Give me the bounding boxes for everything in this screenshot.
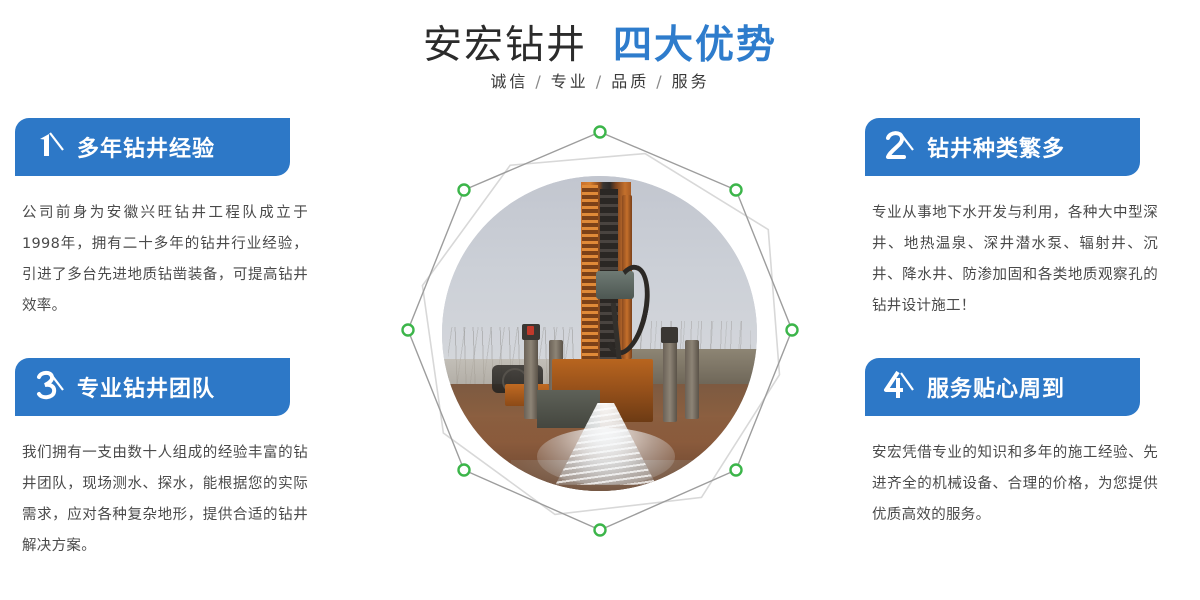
center-graphic	[380, 118, 820, 568]
subtitle-item-2: 品质	[611, 72, 649, 91]
features-column-left: 多年钻井经验 公司前身为安徽兴旺钻井工程队成立于1998年，拥有二十多年的钻井行…	[0, 118, 330, 562]
rig-leg-cap	[661, 327, 678, 343]
features-column-right: 钻井种类繁多 专业从事地下水开发与利用，各种大中型深井、地热温泉、深井潜水泵、辐…	[850, 118, 1180, 531]
feature-body-2: 专业从事地下水开发与利用，各种大中型深井、地热温泉、深井潜水泵、辐射井、沉井、降…	[872, 198, 1158, 322]
feature-badge-2[interactable]: 钻井种类繁多	[865, 118, 1140, 176]
feature-body-1: 公司前身为安徽兴旺钻井工程队成立于1998年，拥有二十多年的钻井行业经验，引进了…	[22, 198, 308, 322]
subtitle: 诚信/专业/品质/服务	[0, 68, 1200, 92]
feature-body-3: 我们拥有一支由数十人组成的经验丰富的钻井团队，现场测水、探水，能根据您的实际需求…	[22, 438, 308, 562]
feature-title-2: 钻井种类繁多	[927, 131, 1065, 163]
subtitle-item-1: 专业	[551, 72, 589, 91]
drilling-rig-photo	[442, 176, 757, 491]
ring-node-icon	[595, 127, 606, 138]
number-two-icon	[879, 125, 923, 169]
title-main: 安宏钻井	[423, 23, 587, 68]
feature-card-2: 钻井种类繁多 专业从事地下水开发与利用，各种大中型深井、地热温泉、深井潜水泵、辐…	[850, 118, 1180, 322]
subtitle-separator: /	[656, 72, 664, 91]
subtitle-separator: /	[596, 72, 604, 91]
feature-card-3: 专业钻井团队 我们拥有一支由数十人组成的经验丰富的钻井团队，现场测水、探水，能根…	[0, 358, 330, 562]
subtitle-item-0: 诚信	[490, 72, 528, 91]
feature-badge-3[interactable]: 专业钻井团队	[15, 358, 290, 416]
ring-node-icon	[787, 325, 798, 336]
feature-card-4: 服务贴心周到 安宏凭借专业的知识和多年的施工经验、先进齐全的机械设备、合理的价格…	[850, 358, 1180, 531]
feature-title-1: 多年钻井经验	[77, 131, 215, 163]
page-header: 安宏钻井四大优势 诚信/专业/品质/服务	[0, 0, 1200, 110]
title-accent: 四大优势	[613, 23, 777, 68]
ring-node-icon	[403, 325, 414, 336]
subtitle-item-3: 服务	[672, 72, 710, 91]
rig-marker-light	[527, 326, 534, 335]
number-one-icon	[29, 125, 73, 169]
subtitle-separator: /	[535, 72, 543, 91]
rig-leg	[685, 340, 699, 419]
rig-leg	[663, 334, 677, 422]
number-three-icon	[29, 365, 73, 409]
number-four-icon	[879, 365, 923, 409]
ring-node-icon	[595, 525, 606, 536]
feature-title-3: 专业钻井团队	[77, 371, 215, 403]
feature-badge-4[interactable]: 服务贴心周到	[865, 358, 1140, 416]
feature-title-4: 服务贴心周到	[927, 371, 1065, 403]
feature-card-1: 多年钻井经验 公司前身为安徽兴旺钻井工程队成立于1998年，拥有二十多年的钻井行…	[0, 118, 330, 322]
page-title: 安宏钻井四大优势	[0, 14, 1200, 70]
feature-badge-1[interactable]: 多年钻井经验	[15, 118, 290, 176]
feature-body-4: 安宏凭借专业的知识和多年的施工经验、先进齐全的机械设备、合理的价格，为您提供优质…	[872, 438, 1158, 531]
